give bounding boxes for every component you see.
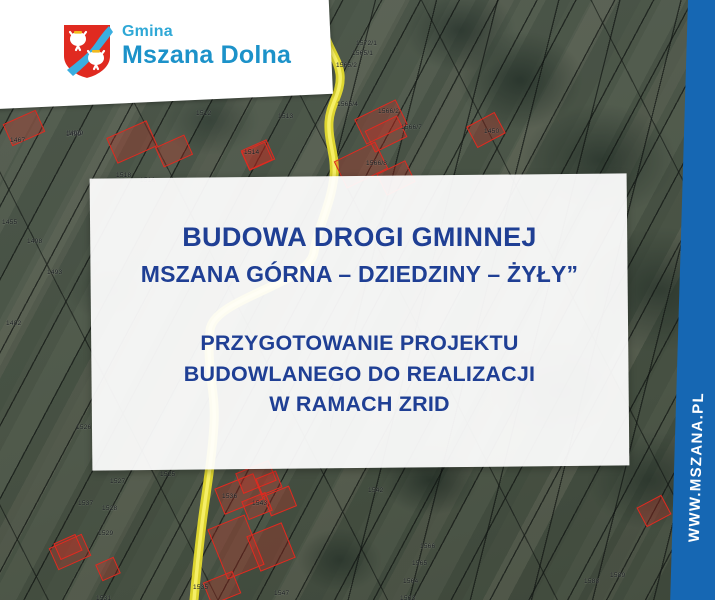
parcel-number-label: 1467	[10, 137, 25, 144]
parcel-number-label: 1529	[98, 530, 113, 537]
parcel-number-label: 1566/8	[366, 160, 387, 167]
parcel-number-label: 1566/7	[401, 124, 422, 131]
parcel-number-label: 1499	[66, 131, 81, 138]
parcel-number-label: 1455	[2, 219, 17, 226]
parcel-number-label: 1563	[400, 595, 415, 600]
parcel-number-label: 1565/1	[352, 50, 373, 57]
parcel-number-label: 1566/2	[378, 108, 399, 115]
parcel-number-label: 1565/4	[337, 101, 358, 108]
logo-line-mszana-dolna: Mszana Dolna	[122, 43, 291, 68]
parcel-number-label: 1450	[484, 128, 499, 135]
parcel-number-label: 1498	[27, 238, 42, 245]
parcel-number-label: 1528	[102, 505, 117, 512]
parcel-number-label: 1547	[274, 590, 289, 597]
project-subtitle-line1: PRZYGOTOWANIE PROJEKTU	[184, 328, 535, 359]
parcel-number-label: 1525	[160, 471, 175, 478]
parcel-number-label: 1589	[610, 572, 625, 579]
parcel-number-label: 1531	[96, 595, 111, 600]
parcel-number-label: 1526	[76, 424, 91, 431]
parcel-number-label: 1565	[412, 560, 427, 567]
parcel-number-label: 1513	[278, 113, 293, 120]
municipality-logo-text: Gmina Mszana Dolna	[122, 24, 291, 68]
project-subtitle-line2: BUDOWLANEGO DO REALIZACJI	[184, 359, 535, 390]
project-title-line2: MSZANA GÓRNA – DZIEDZINY – ŻYŁY”	[141, 261, 578, 288]
parcel-number-label: 1542	[368, 487, 383, 494]
poster-root: 1468146714991499149314551498140215161513…	[0, 0, 715, 600]
project-subtitle-block: PRZYGOTOWANIE PROJEKTU BUDOWLANEGO DO RE…	[184, 328, 535, 420]
parcel-number-label: 1536	[222, 493, 237, 500]
sidebar-website-url-text: WWW.MSZANA.PL	[685, 392, 706, 543]
parcel-number-label: 1564	[403, 578, 418, 585]
parcel-number-label: 1537	[78, 500, 93, 507]
parcel-number-label: 1588	[584, 578, 599, 585]
parcel-number-label: 1402	[6, 320, 21, 327]
logo-line-gmina: Gmina	[122, 24, 291, 40]
project-subtitle-line3: W RAMACH ZRID	[184, 389, 535, 420]
parcel-number-label: 1572/1	[356, 40, 377, 47]
parcel-number-label: 1527	[110, 478, 125, 485]
parcel-number-label: 1514	[244, 149, 259, 156]
parcel-number-label: 1566	[420, 543, 435, 550]
parcel-number-label: 1565/2	[336, 62, 357, 69]
parcel-number-label: 1493	[47, 269, 62, 276]
parcel-number-label: 1543	[252, 500, 267, 507]
header-banner: Gmina Mszana Dolna	[0, 0, 333, 110]
project-title-line1: BUDOWA DROGI GMINNEJ	[182, 222, 537, 253]
parcel-number-label: 1535	[193, 584, 208, 591]
announcement-panel: BUDOWA DROGI GMINNEJ MSZANA GÓRNA – DZIE…	[90, 173, 630, 470]
mszana-dolna-coat-of-arms-icon	[61, 22, 113, 80]
parcel-number-label: 1512	[196, 110, 211, 117]
